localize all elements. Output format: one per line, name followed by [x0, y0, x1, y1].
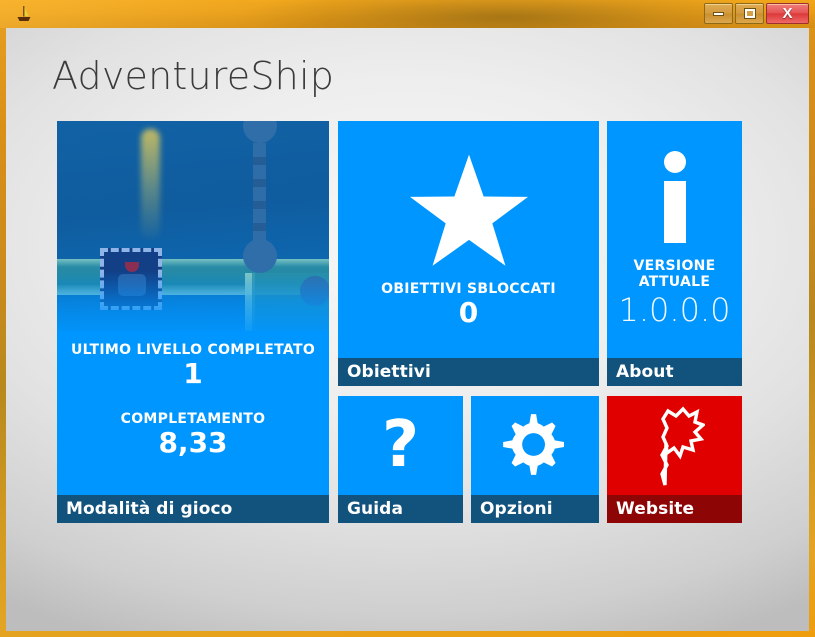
tile-footer-guida: Guida — [338, 495, 463, 523]
question-mark-icon: ? — [382, 415, 419, 476]
close-icon: X — [782, 6, 792, 21]
about-caption-line2: ATTUALE — [639, 275, 711, 291]
title-bar: X — [0, 0, 815, 28]
tile-footer-obiettivi: Obiettivi — [338, 358, 599, 386]
sailboat-icon — [14, 4, 34, 24]
client-area: AdventureShip — [6, 28, 809, 631]
minimize-icon — [713, 12, 724, 16]
goals-value: 0 — [459, 298, 478, 327]
stat-value-completion: 8,33 — [158, 428, 227, 457]
star-icon — [407, 152, 531, 270]
close-button[interactable]: X — [766, 3, 809, 24]
tile-gamemode[interactable]: ULTIMO LIVELLO COMPLETATO 1 COMPLETAMENT… — [57, 121, 329, 523]
tile-website[interactable]: Website — [607, 396, 742, 523]
jagged-p-logo-icon — [645, 403, 705, 489]
tile-body-website — [607, 396, 742, 495]
gear-icon — [502, 413, 568, 479]
minimize-button[interactable] — [704, 3, 733, 24]
info-icon-stem — [664, 181, 686, 243]
tile-footer-about: About — [607, 358, 742, 386]
maximize-button[interactable] — [735, 3, 764, 24]
thumb-node — [243, 239, 277, 273]
tile-opzioni[interactable]: Opzioni — [471, 396, 599, 523]
thumb-light-beam — [141, 129, 160, 239]
tile-footer-website: Website — [607, 495, 742, 523]
tile-obiettivi[interactable]: OBIETTIVI SBLOCCATI 0 Obiettivi — [338, 121, 599, 386]
page-title: AdventureShip — [52, 54, 334, 98]
tile-body-about: VERSIONE ATTUALE 1.0.0.0 — [607, 121, 742, 358]
tile-about[interactable]: VERSIONE ATTUALE 1.0.0.0 About — [607, 121, 742, 386]
tile-body-opzioni — [471, 396, 599, 495]
info-icon — [664, 151, 686, 259]
tile-guida[interactable]: ? Guida — [338, 396, 463, 523]
maximize-icon — [745, 9, 755, 18]
application-window: X AdventureShip — [0, 0, 815, 637]
tile-footer-opzioni: Opzioni — [471, 495, 599, 523]
tile-body-obiettivi: OBIETTIVI SBLOCCATI 0 — [338, 121, 599, 358]
stat-value-last-level: 1 — [183, 359, 202, 388]
thumbnail-fade-overlay — [57, 271, 329, 339]
thumb-node — [243, 121, 277, 143]
info-icon-dot — [664, 151, 686, 173]
about-caption-line1: VERSIONE — [633, 259, 715, 275]
gamemode-stats: ULTIMO LIVELLO COMPLETATO 1 COMPLETAMENT… — [57, 333, 329, 495]
tile-footer-gamemode: Modalità di gioco — [57, 495, 329, 523]
window-controls[interactable]: X — [704, 3, 809, 24]
tile-body-guida: ? — [338, 396, 463, 495]
about-version-value: 1.0.0.0 — [619, 293, 731, 328]
titlebar-highlight — [0, 0, 330, 28]
tile-grid: ULTIMO LIVELLO COMPLETATO 1 COMPLETAMENT… — [57, 121, 742, 523]
